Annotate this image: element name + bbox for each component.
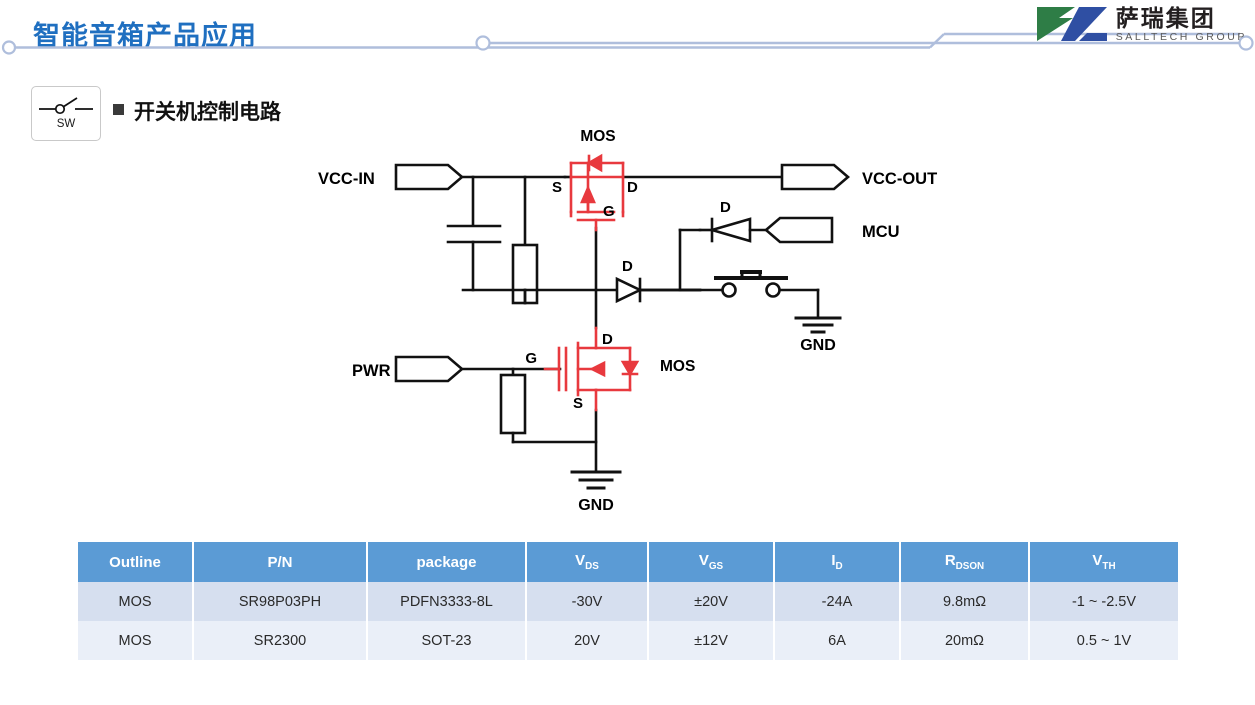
spec-table: Outline P/N package VDS VGS ID RDSON VTH…	[78, 542, 1178, 660]
company-logo: 萨瑞集团 SALLTECH GROUP	[1035, 2, 1247, 48]
logo-name-cn: 萨瑞集团	[1116, 7, 1247, 30]
label-gnd-bottom: GND	[578, 497, 614, 514]
table-header-row: Outline P/N package VDS VGS ID RDSON VTH	[78, 542, 1178, 582]
col-package: package	[367, 542, 526, 582]
table-row: MOS SR98P03PH PDFN3333-8L -30V ±20V -24A…	[78, 582, 1178, 621]
cell-package: SOT-23	[367, 621, 526, 660]
label-vcc-in: VCC-IN	[318, 170, 375, 188]
col-vth: VTH	[1029, 542, 1178, 582]
label-diode-mid: D	[622, 258, 633, 275]
col-vds: VDS	[526, 542, 648, 582]
cell-vgs: ±20V	[648, 582, 774, 621]
cell-pn: SR98P03PH	[193, 582, 367, 621]
cell-outline: MOS	[78, 621, 193, 660]
logo-mark-icon	[1035, 5, 1109, 45]
label-mos-top: MOS	[580, 128, 615, 145]
p-mosfet-symbol	[571, 156, 623, 230]
col-outline: Outline	[78, 542, 193, 582]
label-n-gate: G	[525, 350, 537, 367]
col-vgs: VGS	[648, 542, 774, 582]
cell-vds: -30V	[526, 582, 648, 621]
label-diode-mcu: D	[720, 199, 731, 216]
col-id: ID	[774, 542, 900, 582]
cell-id: 6A	[774, 621, 900, 660]
circuit-diagram: VCC-IN VCC-OUT MCU PWR MOS MOS S D G D G…	[0, 60, 1000, 530]
label-n-drain: D	[602, 331, 613, 348]
cell-outline: MOS	[78, 582, 193, 621]
label-gnd-mid: GND	[800, 337, 836, 354]
table-row: MOS SR2300 SOT-23 20V ±12V 6A 20mΩ 0.5 ~…	[78, 621, 1178, 660]
n-mosfet-symbol	[545, 328, 637, 410]
label-n-source: S	[573, 395, 583, 412]
label-p-gate: G	[603, 203, 615, 220]
cell-vgs: ±12V	[648, 621, 774, 660]
label-vcc-out: VCC-OUT	[862, 170, 937, 188]
cell-vth: -1 ~ -2.5V	[1029, 582, 1178, 621]
label-mcu: MCU	[862, 223, 900, 241]
cell-vth: 0.5 ~ 1V	[1029, 621, 1178, 660]
cell-id: -24A	[774, 582, 900, 621]
cell-package: PDFN3333-8L	[367, 582, 526, 621]
cell-rdson: 9.8mΩ	[900, 582, 1029, 621]
cell-pn: SR2300	[193, 621, 367, 660]
cell-vds: 20V	[526, 621, 648, 660]
cell-rdson: 20mΩ	[900, 621, 1029, 660]
logo-name-en: SALLTECH GROUP	[1116, 32, 1247, 43]
label-p-source: S	[552, 179, 562, 196]
col-rdson: RDSON	[900, 542, 1029, 582]
col-pn: P/N	[193, 542, 367, 582]
label-p-drain: D	[627, 179, 638, 196]
label-pwr: PWR	[352, 362, 391, 380]
label-mos-bottom: MOS	[660, 358, 695, 375]
